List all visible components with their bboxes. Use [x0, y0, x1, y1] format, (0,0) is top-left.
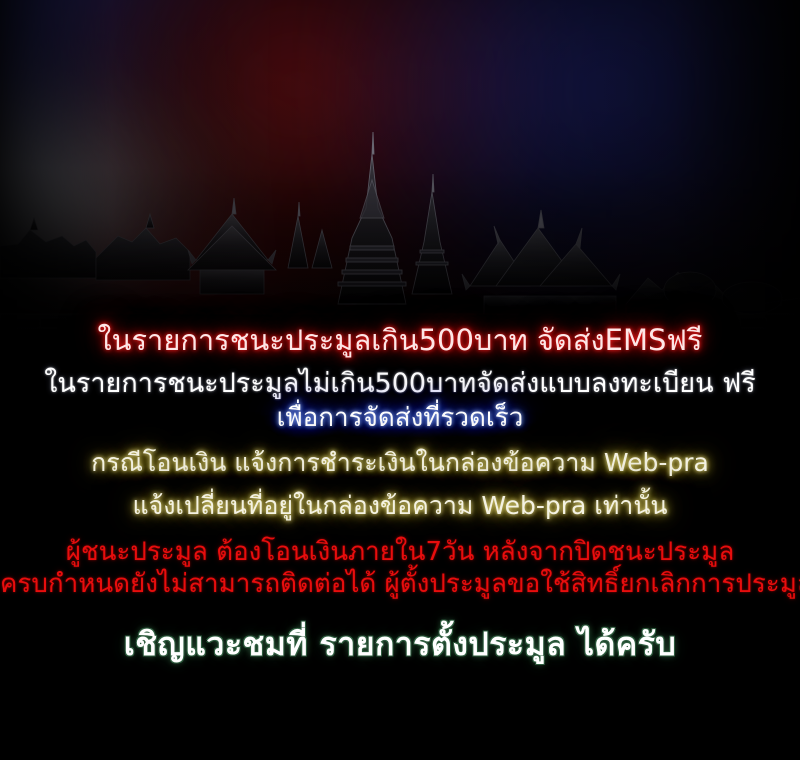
terms-line-fast-shipping: เพื่อการจัดส่งที่รวดเร็ว	[0, 397, 800, 432]
terms-text-block: ในรายการชนะประมูลเกิน500บาท จัดส่งEMSฟรี…	[0, 318, 800, 660]
terms-line-notify-payment: กรณีโอนเงิน แจ้งการชำระเงินในกล่องข้อควา…	[0, 432, 800, 476]
terms-line-visit-listings: เชิญแวะชมที่ รายการตั้งประมูล ได้ครับ	[0, 598, 800, 661]
thai-temple-silhouette	[0, 118, 800, 348]
terms-line-cancel-right: ครบกำหนดยังไม่สามารถติดต่อได้ ผู้ตั้งประ…	[0, 565, 800, 598]
auction-terms-banner: ในรายการชนะประมูลเกิน500บาท จัดส่งEMSฟรี…	[0, 0, 800, 760]
terms-line-transfer-7-days: ผู้ชนะประมูล ต้องโอนเงินภายใน7วัน หลังจา…	[0, 519, 800, 566]
terms-line-ems-free: ในรายการชนะประมูลเกิน500บาท จัดส่งEMSฟรี	[0, 318, 800, 356]
terms-line-change-address: แจ้งเปลี่ยนที่อยู่ในกล่องข้อความ Web-pra…	[0, 475, 800, 519]
terms-line-registered-free: ในรายการชนะประมูลไม่เกิน500บาทจัดส่งแบบล…	[0, 356, 800, 398]
